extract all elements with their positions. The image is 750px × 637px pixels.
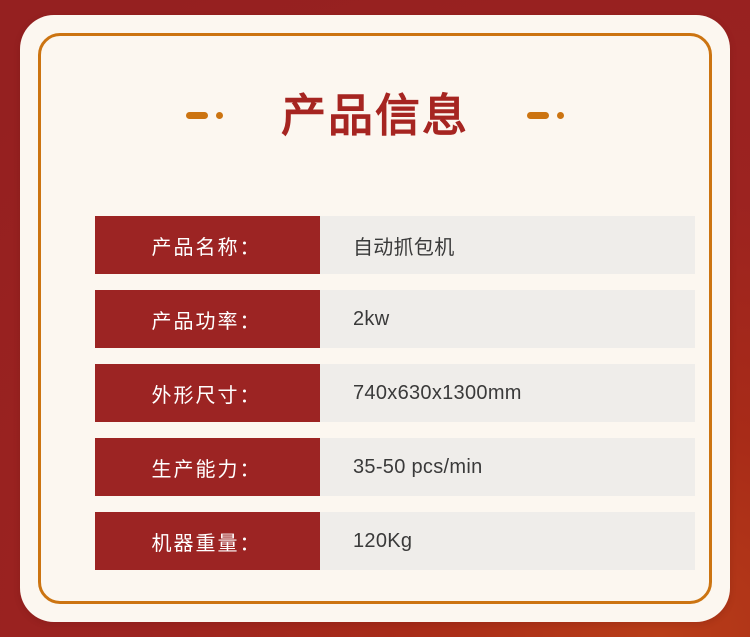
spec-label: 外形尺寸： <box>95 364 320 422</box>
spec-table: 产品名称： 自动抓包机 产品功率： 2kw 外形尺寸： 740x630x1300… <box>95 216 695 570</box>
spec-label: 机器重量： <box>95 512 320 570</box>
decoration-right <box>527 112 564 119</box>
dot-icon <box>557 112 564 119</box>
poster-header: 产品信息 <box>58 70 692 160</box>
dash-icon <box>527 112 549 119</box>
dot-icon <box>216 112 223 119</box>
spec-value: 自动抓包机 <box>320 216 695 274</box>
table-row: 生产能力： 35-50 pcs/min <box>95 438 695 496</box>
spec-label: 生产能力： <box>95 438 320 496</box>
decoration-left <box>186 112 223 119</box>
table-row: 机器重量： 120Kg <box>95 512 695 570</box>
spec-label: 产品名称： <box>95 216 320 274</box>
table-row: 外形尺寸： 740x630x1300mm <box>95 364 695 422</box>
product-info-poster: 产品信息 产品名称： 自动抓包机 产品功率： 2kw 外形尺寸： 740x630… <box>0 0 750 637</box>
cream-panel: 产品信息 产品名称： 自动抓包机 产品功率： 2kw 外形尺寸： 740x630… <box>20 15 730 622</box>
spec-value: 740x630x1300mm <box>320 364 695 422</box>
spec-label: 产品功率： <box>95 290 320 348</box>
page-title: 产品信息 <box>281 93 469 138</box>
spec-value: 120Kg <box>320 512 695 570</box>
table-row: 产品名称： 自动抓包机 <box>95 216 695 274</box>
table-row: 产品功率： 2kw <box>95 290 695 348</box>
spec-value: 35-50 pcs/min <box>320 438 695 496</box>
spec-value: 2kw <box>320 290 695 348</box>
dash-icon <box>186 112 208 119</box>
